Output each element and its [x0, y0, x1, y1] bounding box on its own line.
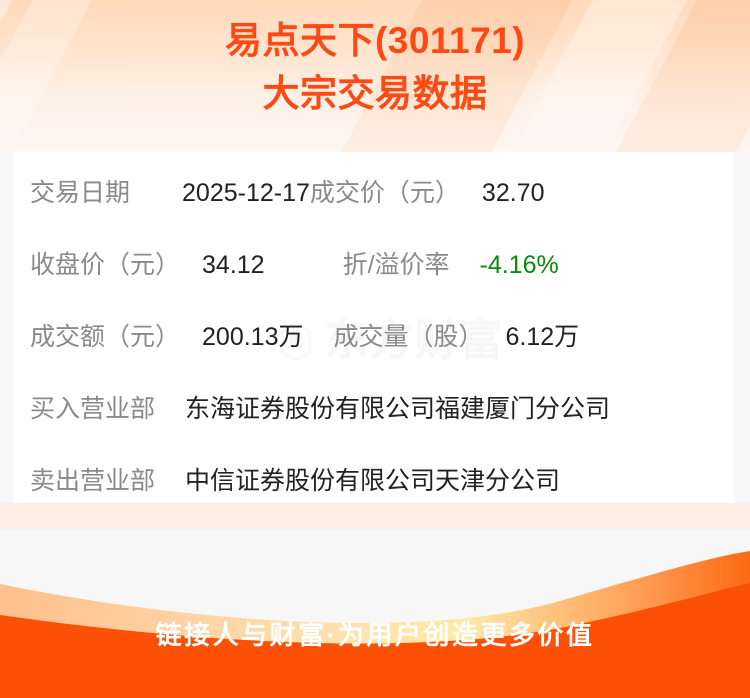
- row-value-seller-branch: 中信证券股份有限公司天津分公司: [185, 464, 560, 498]
- table-row: 交易日期 2025-12-17 成交价（元） 32.70: [14, 176, 734, 210]
- row-value-buyer-branch: 东海证券股份有限公司福建厦门分公司: [185, 392, 610, 426]
- row-label-premium-rate: 折/溢价率: [343, 248, 450, 282]
- row-label-seller-branch: 卖出营业部: [30, 464, 155, 498]
- table-row: 卖出营业部 中信证券股份有限公司天津分公司: [14, 464, 734, 498]
- data-card: 东方财富 交易日期 2025-12-17 成交价（元） 32.70 收盘价（元）…: [14, 152, 734, 503]
- table-row: 收盘价（元） 34.12 折/溢价率 -4.16%: [14, 248, 734, 282]
- row-label-close-price: 收盘价（元）: [30, 248, 180, 282]
- page-title: 易点天下(301171) 大宗交易数据: [0, 14, 750, 120]
- row-value-volume: 6.12万: [506, 320, 580, 354]
- table-row: 成交额（元） 200.13万 成交量（股） 6.12万: [14, 320, 734, 354]
- row-label-volume: 成交量（股）: [333, 320, 483, 354]
- title-line-stock: 易点天下(301171): [0, 14, 750, 67]
- row-label-buyer-branch: 买入营业部: [30, 392, 155, 426]
- footer-slogan: 链接人与财富·为用户创造更多价值: [0, 617, 750, 653]
- row-label-trade-price: 成交价（元）: [310, 176, 460, 210]
- row-value-close-price: 34.12: [202, 248, 265, 282]
- row-value-turnover: 200.13万: [202, 320, 303, 354]
- row-label-trade-date: 交易日期: [30, 176, 130, 210]
- header-banner: 易点天下(301171) 大宗交易数据: [0, 0, 750, 152]
- footer-wave: [0, 529, 750, 698]
- big-trade-data-card: 易点天下(301171) 大宗交易数据 东方财富 交易日期 2025-12-17…: [0, 0, 750, 698]
- row-value-trade-price: 32.70: [482, 176, 545, 210]
- row-value-premium-rate: -4.16%: [480, 248, 559, 282]
- row-value-trade-date: 2025-12-17: [182, 176, 310, 210]
- peach-divider-band: [0, 503, 750, 529]
- title-line-subject: 大宗交易数据: [0, 67, 750, 120]
- row-label-turnover: 成交额（元）: [30, 320, 180, 354]
- table-row: 买入营业部 东海证券股份有限公司福建厦门分公司: [14, 392, 734, 426]
